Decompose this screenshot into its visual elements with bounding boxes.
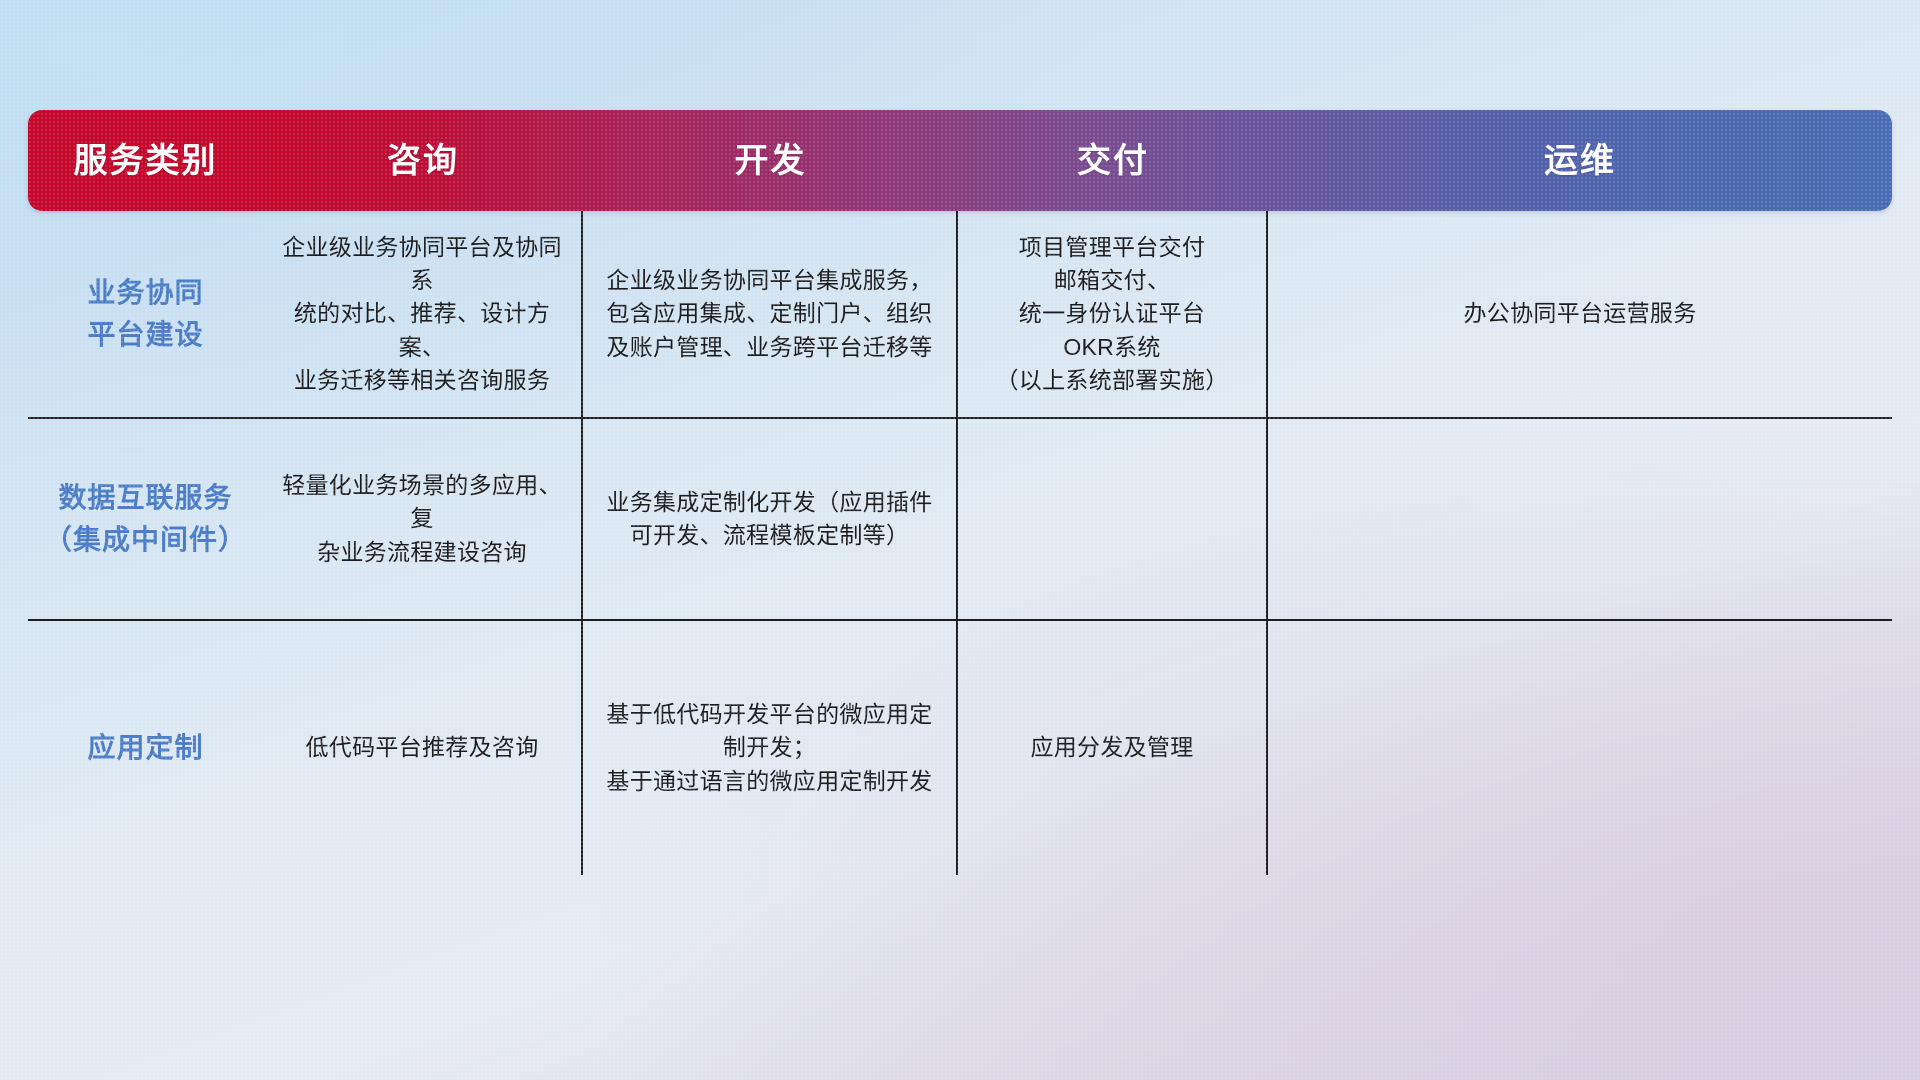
cell-operations-row2 [1268, 419, 1892, 619]
column-header-category: 服务类别 [28, 144, 263, 178]
cell-operations-row3 [1268, 621, 1892, 875]
column-header-development: 开发 [583, 144, 958, 178]
row-label-data-interconnect: 数据互联服务 （集成中间件） [28, 419, 263, 619]
table-row: 业务协同 平台建设 企业级业务协同平台及协同系 统的对比、推荐、设计方案、 业务… [28, 211, 1892, 417]
column-header-consulting: 咨询 [263, 144, 583, 178]
slide-canvas: 服务类别 咨询 开发 交付 运维 业务协同 平台建设 企业级业务协同平台及协同系… [0, 0, 1920, 1080]
cell-consulting-row1: 企业级业务协同平台及协同系 统的对比、推荐、设计方案、 业务迁移等相关咨询服务 [263, 211, 583, 417]
cell-delivery-row3: 应用分发及管理 [958, 621, 1268, 875]
cell-operations-row1: 办公协同平台运营服务 [1268, 211, 1892, 417]
table-body: 业务协同 平台建设 企业级业务协同平台及协同系 统的对比、推荐、设计方案、 业务… [28, 211, 1892, 875]
service-matrix-table: 服务类别 咨询 开发 交付 运维 业务协同 平台建设 企业级业务协同平台及协同系… [28, 110, 1892, 958]
cell-development-row3: 基于低代码开发平台的微应用定 制开发； 基于通过语言的微应用定制开发 [583, 621, 958, 875]
cell-development-row2: 业务集成定制化开发（应用插件 可开发、流程模板定制等） [583, 419, 958, 619]
column-header-operations: 运维 [1268, 144, 1892, 178]
table-header-row: 服务类别 咨询 开发 交付 运维 [28, 110, 1892, 211]
row-label-app-customization: 应用定制 [28, 621, 263, 875]
column-header-delivery: 交付 [958, 144, 1268, 178]
table-row: 数据互联服务 （集成中间件） 轻量化业务场景的多应用、复 杂业务流程建设咨询 业… [28, 417, 1892, 619]
cell-delivery-row2 [958, 419, 1268, 619]
cell-consulting-row2: 轻量化业务场景的多应用、复 杂业务流程建设咨询 [263, 419, 583, 619]
cell-delivery-row1: 项目管理平台交付 邮箱交付、 统一身份认证平台 OKR系统 （以上系统部署实施） [958, 211, 1268, 417]
table-row: 应用定制 低代码平台推荐及咨询 基于低代码开发平台的微应用定 制开发； 基于通过… [28, 619, 1892, 875]
row-label-business-collaboration: 业务协同 平台建设 [28, 211, 263, 417]
cell-consulting-row3: 低代码平台推荐及咨询 [263, 621, 583, 875]
cell-development-row1: 企业级业务协同平台集成服务， 包含应用集成、定制门户、组织 及账户管理、业务跨平… [583, 211, 958, 417]
